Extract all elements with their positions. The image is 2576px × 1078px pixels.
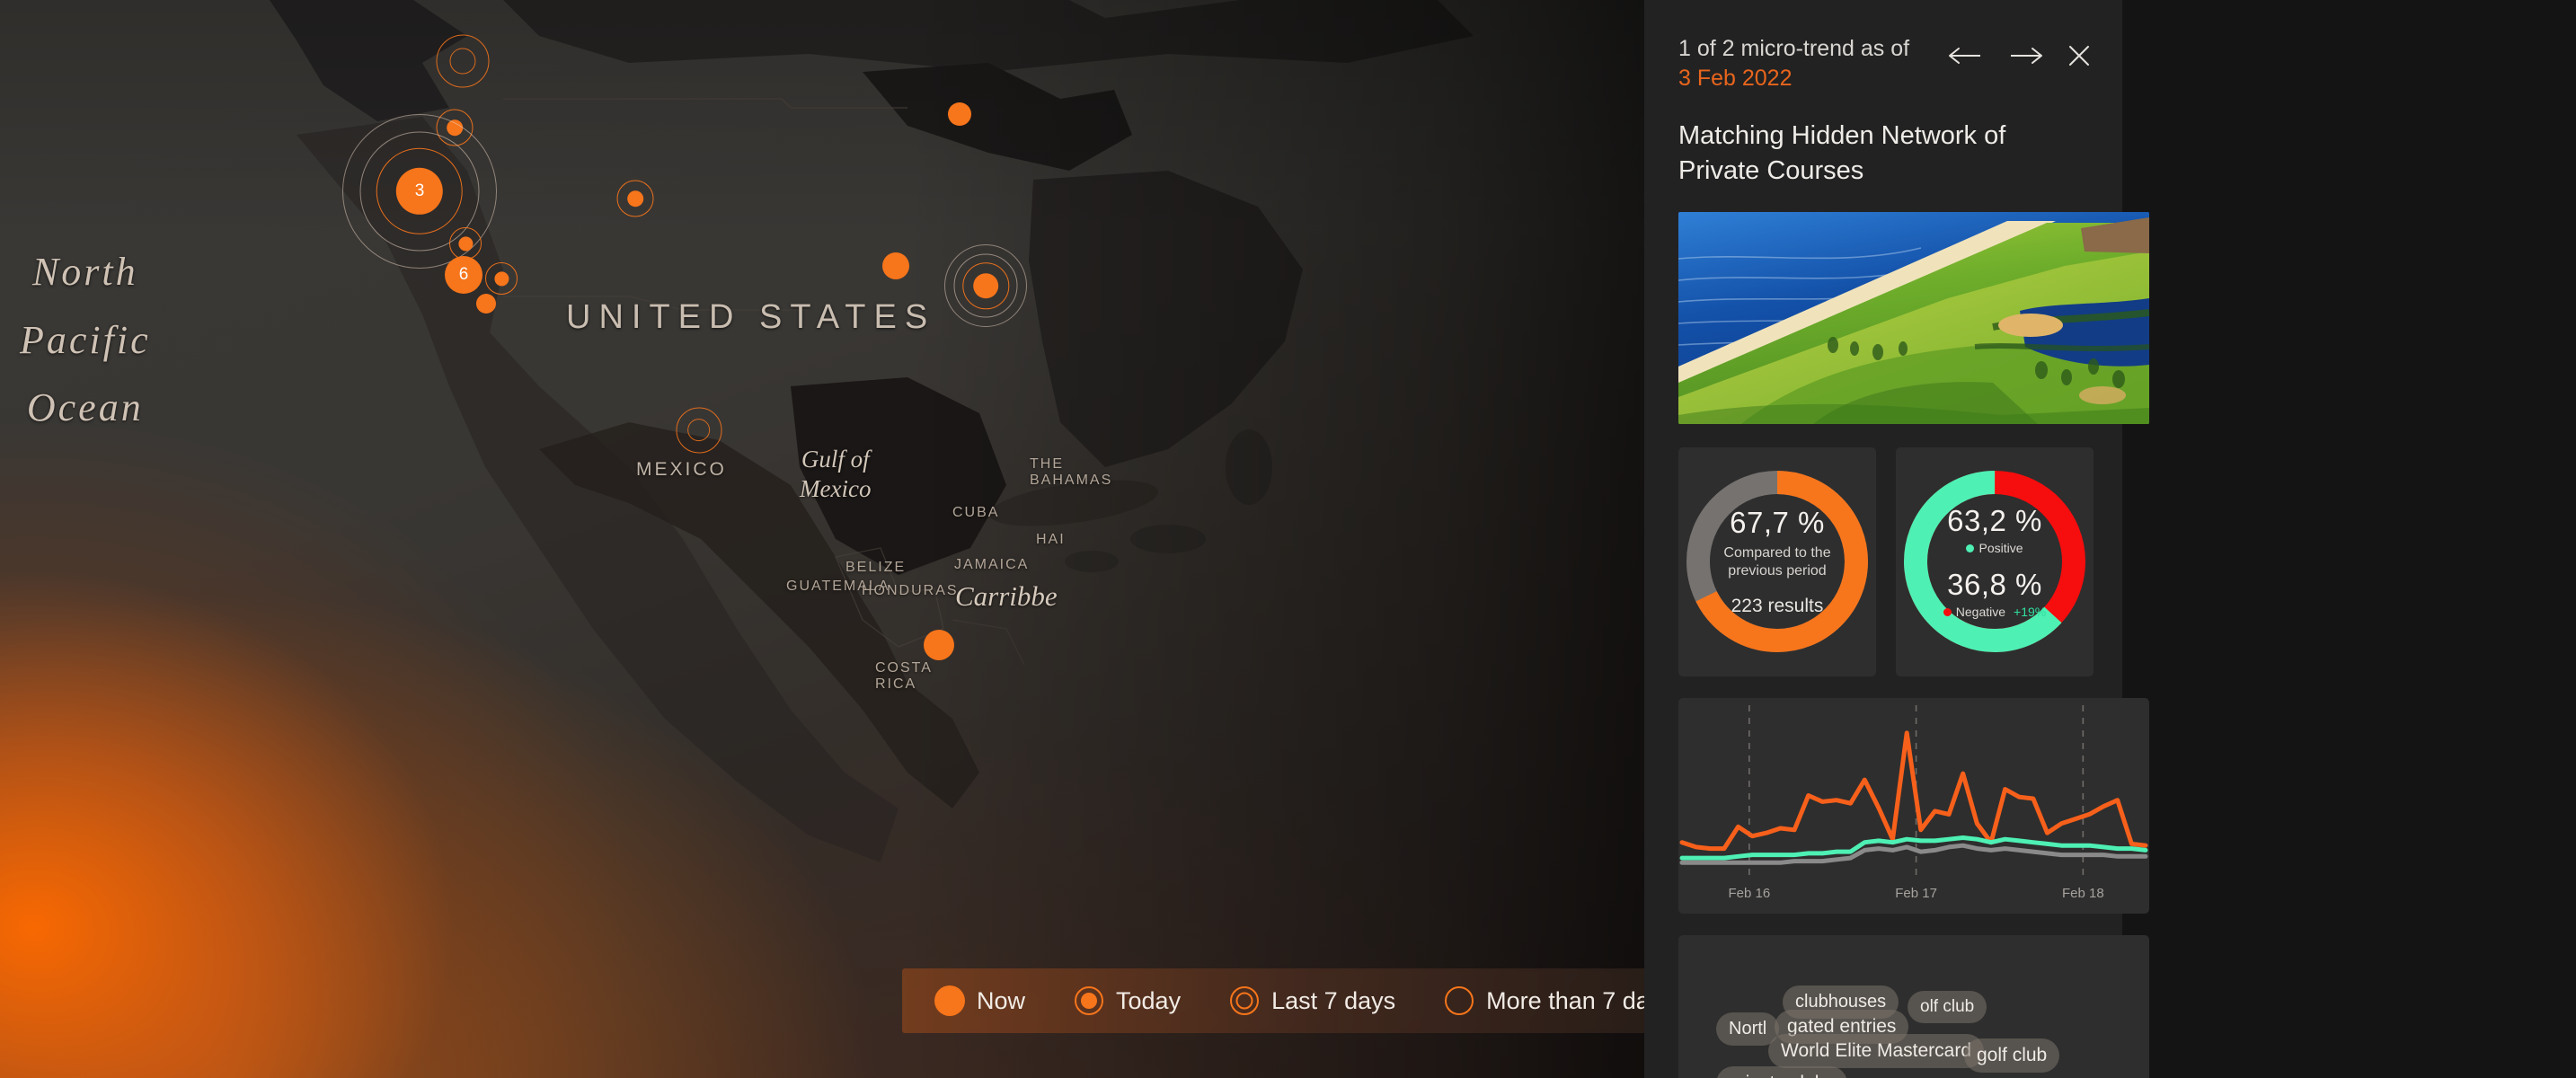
marker-dot bbox=[494, 271, 509, 286]
sentiment-positive-percent: 63,2 % bbox=[1947, 504, 2042, 538]
trend-photo[interactable] bbox=[1678, 212, 2149, 424]
marker-dot bbox=[948, 102, 971, 126]
keyword-cloud[interactable]: clubhousesolf clubNortlgated entriesWorl… bbox=[1678, 935, 2149, 1078]
legend-last-7-days[interactable]: Last 7 days bbox=[1229, 985, 1395, 1016]
sentiment-negative-percent: 36,8 % bbox=[1947, 568, 2042, 602]
marker-count-label: 6 bbox=[445, 256, 482, 294]
close-icon[interactable] bbox=[2065, 41, 2094, 70]
legend-more-than-7-days-icon bbox=[1444, 985, 1474, 1016]
panel-title: Matching Hidden Network of Private Cours… bbox=[1678, 119, 2094, 189]
comparison-caption-1: Compared to the bbox=[1723, 544, 1830, 562]
chart-tick-2: Feb 18 bbox=[2062, 886, 2104, 901]
sentiment-donut: 63,2 % Positive 36,8 % Negative +19% bbox=[1898, 464, 2092, 658]
sentiment-negative-legend: Negative +19% bbox=[1943, 605, 2046, 619]
comparison-donut: 67,7 % Compared to the previous period 2… bbox=[1680, 464, 1874, 658]
map-marker-socal[interactable]: 6 bbox=[445, 256, 482, 294]
comparison-card: 67,7 % Compared to the previous period 2… bbox=[1678, 447, 1876, 676]
marker-dot bbox=[973, 273, 998, 298]
map-landmass bbox=[0, 0, 1644, 1078]
tag-golf-club[interactable]: golf club bbox=[1964, 1038, 2059, 1073]
tag-private-clubs[interactable]: private clubs bbox=[1716, 1066, 1847, 1078]
positive-bullet-icon bbox=[1966, 544, 1974, 552]
legend-now-label: Now bbox=[977, 987, 1025, 1015]
comparison-percent: 67,7 % bbox=[1730, 506, 1825, 540]
comparison-results: 223 results bbox=[1731, 596, 1824, 617]
legend-today-label: Today bbox=[1116, 987, 1181, 1015]
panel-counter: 1 of 2 micro-trend as of 3 Feb 2022 bbox=[1678, 34, 1909, 93]
sentiment-positive-label: Positive bbox=[1978, 541, 2023, 555]
legend-now[interactable]: Now bbox=[934, 985, 1025, 1016]
panel-counter-text: 1 of 2 micro-trend as of bbox=[1678, 36, 1909, 61]
marker-count-label: 3 bbox=[396, 168, 443, 215]
marker-dot bbox=[458, 236, 473, 251]
map-marker-southeast[interactable] bbox=[882, 252, 909, 279]
legend-more-than-7-days[interactable]: More than 7 days ago bbox=[1444, 985, 1644, 1016]
time-legend[interactable]: NowTodayLast 7 daysMore than 7 days ago bbox=[902, 968, 1644, 1033]
comparison-caption-2: previous period bbox=[1723, 562, 1830, 580]
sentiment-card: 63,2 % Positive 36,8 % Negative +19% bbox=[1896, 447, 2094, 676]
marker-dot bbox=[924, 630, 954, 660]
map-canvas[interactable]: NorthPacificOceanUNITED STATESMEXICOGulf… bbox=[0, 0, 1644, 1078]
prev-arrow-icon[interactable] bbox=[1946, 42, 1986, 69]
chart-tick-1: Feb 17 bbox=[1895, 886, 1937, 901]
panel-nav-controls bbox=[1946, 34, 2094, 70]
map-marker-northeast[interactable] bbox=[945, 245, 1026, 326]
chart-tick-0: Feb 16 bbox=[1728, 886, 1770, 901]
tag-world-elite-mastercard[interactable]: World Elite Mastercard bbox=[1768, 1034, 1984, 1068]
line-chart-svg bbox=[1678, 698, 2149, 914]
panel-date: 3 Feb 2022 bbox=[1678, 64, 1909, 93]
tag-north[interactable]: Nortl bbox=[1716, 1012, 1779, 1046]
map-marker-baja[interactable] bbox=[476, 294, 496, 314]
panel-header: 1 of 2 micro-trend as of 3 Feb 2022 bbox=[1678, 34, 2094, 93]
sentiment-negative-label: Negative bbox=[1956, 605, 2005, 619]
negative-bullet-icon bbox=[1943, 608, 1952, 616]
map-marker-central-mexico[interactable] bbox=[668, 399, 730, 462]
legend-last-7-days-label: Last 7 days bbox=[1271, 987, 1395, 1015]
golf-course-image bbox=[1678, 212, 2149, 424]
trend-line-chart[interactable]: Feb 16Feb 17Feb 18 bbox=[1678, 698, 2149, 914]
map-marker-midwest[interactable] bbox=[609, 172, 661, 225]
map-marker-seattle[interactable] bbox=[425, 23, 500, 98]
chart-series-mentions bbox=[1682, 733, 2146, 849]
marker-dot bbox=[476, 294, 496, 314]
marker-ring bbox=[449, 48, 476, 75]
marker-dot bbox=[627, 190, 643, 207]
legend-today-icon bbox=[1074, 985, 1104, 1016]
marker-dot bbox=[882, 252, 909, 279]
metric-cards: 67,7 % Compared to the previous period 2… bbox=[1678, 447, 2094, 676]
next-arrow-icon[interactable] bbox=[2005, 42, 2045, 69]
micro-trend-detail-panel: 1 of 2 micro-trend as of 3 Feb 2022 Matc… bbox=[1644, 0, 2122, 1078]
map-marker-greatlakes[interactable] bbox=[948, 102, 971, 126]
tag-olf-club[interactable]: olf club bbox=[1908, 991, 1987, 1023]
legend-today[interactable]: Today bbox=[1074, 985, 1181, 1016]
sentiment-positive-legend: Positive bbox=[1966, 541, 2023, 555]
map-marker-panama[interactable] bbox=[924, 630, 954, 660]
legend-last-7-days-icon bbox=[1229, 985, 1260, 1016]
legend-more-than-7-days-label: More than 7 days ago bbox=[1486, 987, 1644, 1015]
sentiment-delta: +19% bbox=[2014, 605, 2046, 619]
legend-now-icon bbox=[934, 985, 965, 1016]
